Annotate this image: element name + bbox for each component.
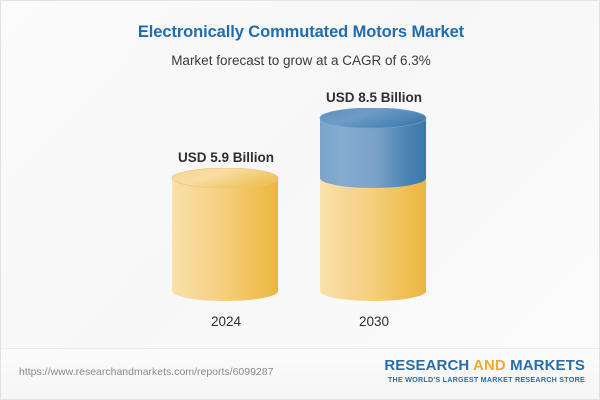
logo-wordmark: RESEARCH AND MARKETS <box>384 357 585 374</box>
chart-card: Electronically Commutated Motors Market … <box>0 0 600 400</box>
logo-word-and: AND <box>473 357 510 374</box>
cylinder-2030-svg <box>317 108 431 301</box>
report-url[interactable]: https://www.researchandmarkets.com/repor… <box>19 366 273 378</box>
cylinder-2024[interactable] <box>169 168 283 306</box>
category-label-2030: 2030 <box>317 314 431 329</box>
logo-tagline: THE WORLD'S LARGEST MARKET RESEARCH STOR… <box>384 375 585 384</box>
footer: https://www.researchandmarkets.com/repor… <box>1 348 600 399</box>
research-and-markets-logo[interactable]: RESEARCH AND MARKETS THE WORLD'S LARGEST… <box>384 357 585 384</box>
plot-area: USD 5.9 Billion <box>1 1 600 349</box>
logo-word-markets: MARKETS <box>510 357 585 374</box>
data-label-2030: USD 8.5 Billion <box>317 90 431 105</box>
cylinder-2024-svg <box>169 168 283 301</box>
cylinder-2030[interactable] <box>317 108 431 306</box>
data-label-2024: USD 5.9 Billion <box>169 150 283 165</box>
category-label-2024: 2024 <box>169 314 283 329</box>
logo-word-research: RESEARCH <box>384 357 473 374</box>
